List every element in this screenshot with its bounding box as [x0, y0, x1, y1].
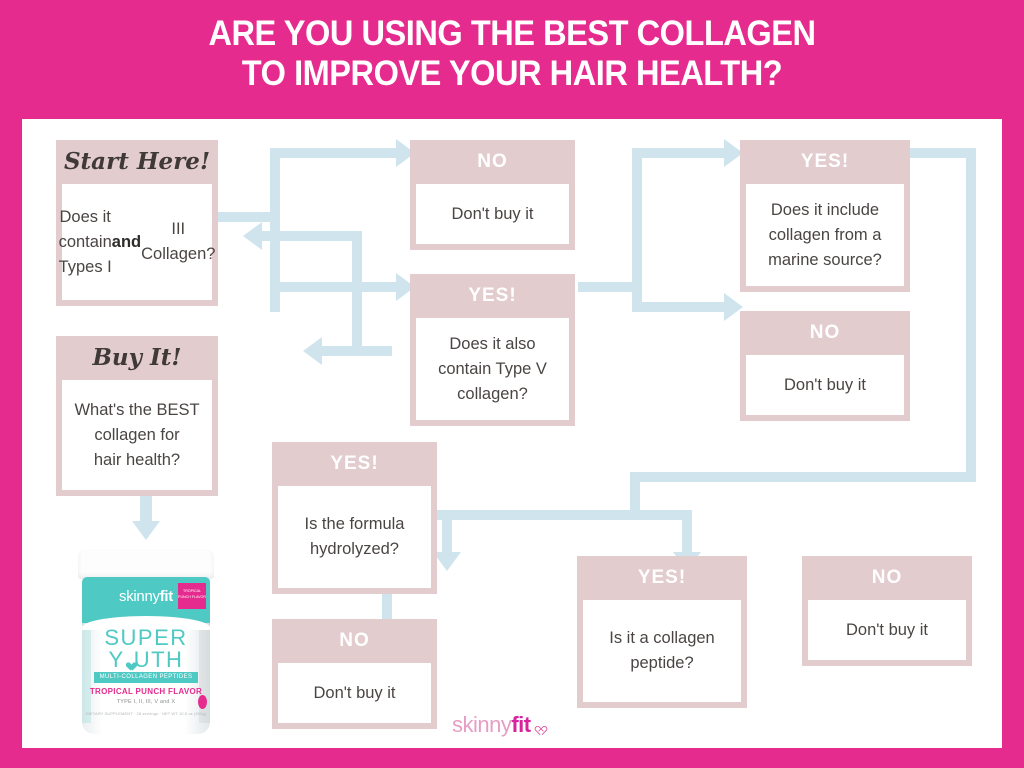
product-lid: [78, 549, 214, 579]
node-yes-peptide[interactable]: YES! Is it a collagenpeptide?: [577, 556, 747, 708]
arrowhead-to-buy-it: [243, 222, 262, 250]
connector-peptide-down: [442, 510, 452, 556]
node-no-types-body: Don't buy it: [416, 184, 569, 244]
infographic-canvas: Are You Using The Best Collagen To Impro…: [0, 0, 1024, 768]
node-yes-types[interactable]: YES! Does it alsocontain Type Vcollagen?: [410, 274, 575, 426]
connector-hydrolyzed-to-buyit: [262, 231, 362, 241]
node-no-typev-header: NO: [740, 311, 910, 355]
node-yes-typev-body: Does it includecollagen from amarine sou…: [746, 184, 904, 286]
node-start-header: Start Here!: [56, 140, 218, 184]
node-yes-typev[interactable]: YES! Does it includecollagen from amarin…: [740, 140, 910, 292]
product-image: skinnyfit TROPICAL PUNCH FLAVOR SUPER YU…: [72, 549, 220, 734]
product-label: skinnyfit TROPICAL PUNCH FLAVOR SUPER YU…: [82, 577, 210, 734]
connector-marine-wrap-bottom: [630, 472, 976, 482]
product-types: TYPE I, II, III, V and X: [82, 699, 210, 705]
node-buy-it-body: What's the BESTcollagen forhair health?: [62, 380, 212, 490]
arrowhead-to-yes-peptide: [433, 552, 461, 571]
node-yes-types-body: Does it alsocontain Type Vcollagen?: [416, 318, 569, 420]
connector-start-to-no: [270, 148, 400, 158]
product-flavor: TROPICAL PUNCH FLAVOR: [82, 687, 210, 696]
node-no-hydrolyzed-header: NO: [272, 619, 437, 663]
node-buy-it[interactable]: Buy It! What's the BESTcollagen forhair …: [56, 336, 218, 496]
node-start[interactable]: Start Here! Does it containTypes I and I…: [56, 140, 218, 306]
node-no-hydrolyzed-body: Don't buy it: [278, 663, 431, 723]
product-name-y: Y: [109, 647, 125, 672]
node-no-marine[interactable]: NO Don't buy it: [802, 556, 972, 666]
node-yes-peptide-header: YES!: [577, 556, 747, 600]
node-no-marine-body: Don't buy it: [808, 600, 966, 660]
brand-logo[interactable]: skinnyfit: [452, 712, 544, 738]
node-yes-types-header: YES!: [410, 274, 575, 318]
product-name-uth: UTH: [134, 647, 184, 672]
connector-start-stem: [218, 212, 278, 222]
node-yes-hydrolyzed-body: Is the formulahydrolyzed?: [278, 486, 431, 588]
connector-typev-to-yes: [632, 148, 728, 158]
brand-logo-bold: fit: [511, 712, 530, 737]
node-yes-hydrolyzed[interactable]: YES! Is the formulahydrolyzed?: [272, 442, 437, 594]
node-start-body: Does it containTypes I and IIICollagen?: [62, 184, 212, 300]
product-name-line-2: YUTH: [82, 649, 210, 670]
connector-start-to-yes: [270, 282, 400, 292]
connector-marine-wrap-right: [966, 148, 976, 482]
heart-icon: [533, 722, 544, 733]
product-flavor-tag: TROPICAL PUNCH FLAVOR: [178, 583, 206, 609]
node-no-hydrolyzed[interactable]: NO Don't buy it: [272, 619, 437, 729]
arrowhead-to-product: [132, 521, 160, 540]
connector-typev-trunk: [632, 148, 642, 312]
connector-typev-to-no: [632, 302, 728, 312]
product-subtitle: MULTI-COLLAGEN PEPTIDES: [94, 672, 198, 683]
arrowhead-to-yes-hydrolyzed: [303, 337, 322, 365]
page-title-line-1: Are You Using The Best Collagen: [36, 14, 988, 54]
node-yes-hydrolyzed-header: YES!: [272, 442, 437, 486]
node-no-marine-header: NO: [802, 556, 972, 600]
product-fine-print: DIETARY SUPPLEMENT · 28 servings · NET W…: [82, 711, 210, 716]
node-no-types[interactable]: NO Don't buy it: [410, 140, 575, 250]
node-no-typev-body: Don't buy it: [746, 355, 904, 415]
node-no-typev[interactable]: NO Don't buy it: [740, 311, 910, 421]
node-yes-typev-header: YES!: [740, 140, 910, 184]
heart-icon: [125, 659, 134, 668]
product-name: SUPER YUTH: [82, 627, 210, 670]
node-no-types-header: NO: [410, 140, 575, 184]
connector-nomarine-down: [682, 510, 692, 556]
brand-logo-light: skinny: [452, 712, 511, 737]
product-brand-light: skinny: [119, 588, 160, 605]
page-title-line-2: To Improve Your Hair Health?: [36, 54, 988, 94]
product-brand-bold: fit: [160, 588, 173, 605]
connector-hydrolyzed-up-trunk: [352, 231, 362, 351]
product-seal-icon: [198, 695, 207, 709]
page-title: Are You Using The Best Collagen To Impro…: [36, 14, 988, 94]
connector-typev-stem: [578, 282, 640, 292]
node-yes-peptide-body: Is it a collagenpeptide?: [583, 600, 741, 702]
node-buy-it-header: Buy It!: [56, 336, 218, 380]
